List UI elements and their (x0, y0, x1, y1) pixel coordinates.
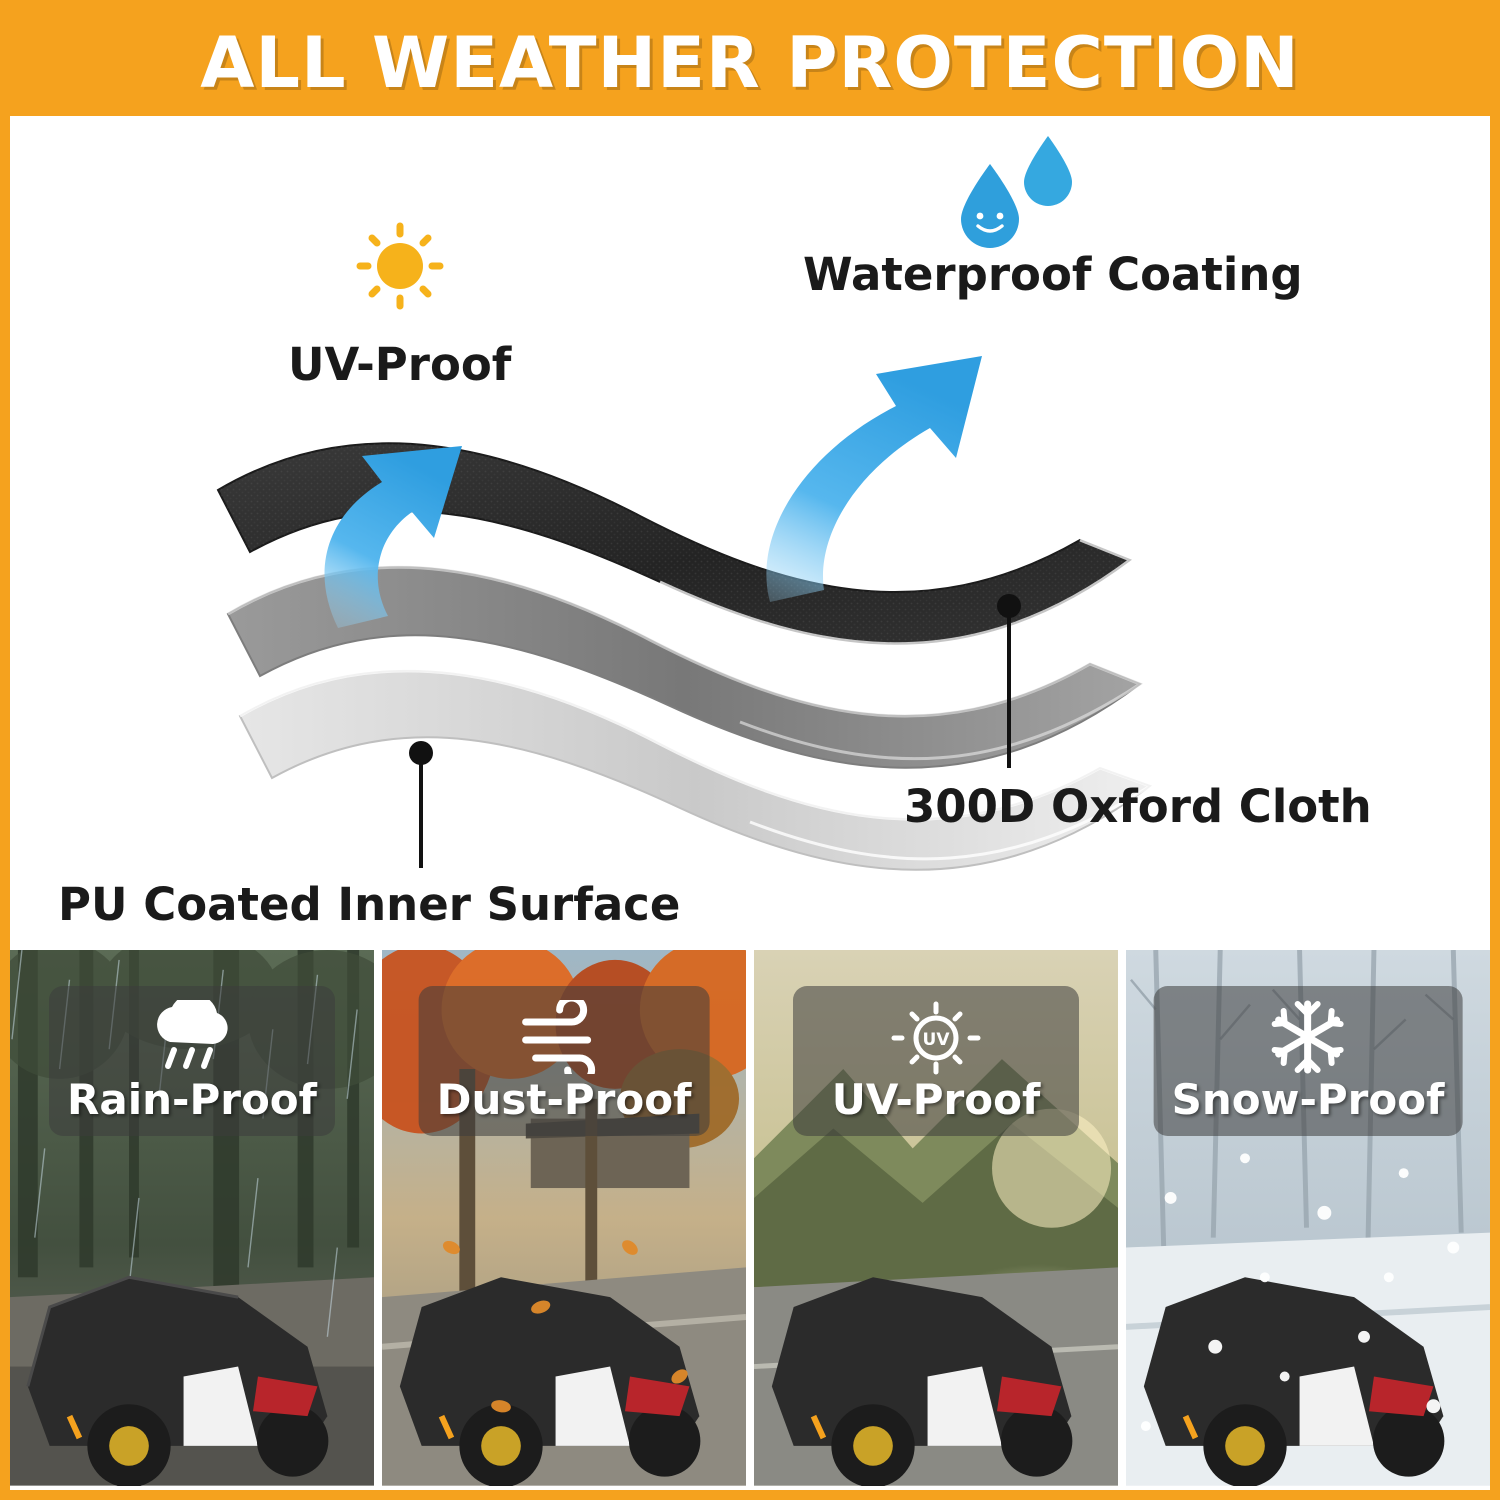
snowflake-icon (1265, 998, 1351, 1076)
feature-panels: Rain-Proof (10, 950, 1490, 1490)
panel-label: Snow-Proof (1172, 1078, 1445, 1122)
panel-label: UV-Proof (832, 1078, 1040, 1122)
panel-uv-proof: UV UV-Proof (754, 950, 1118, 1490)
sun-icon (360, 226, 440, 306)
panel-label: Dust-Proof (437, 1078, 692, 1122)
badge-uv-proof: UV UV-Proof (793, 986, 1079, 1136)
label-oxford-cloth: 300D Oxford Cloth (904, 780, 1372, 833)
product-infographic: ALL WEATHER PROTECTION (0, 0, 1500, 1500)
badge-rain-proof: Rain-Proof (49, 986, 335, 1136)
header-banner: ALL WEATHER PROTECTION (10, 10, 1490, 116)
uv-sun-icon: UV (888, 998, 984, 1076)
badge-dust-proof: Dust-Proof (419, 986, 710, 1136)
repel-arrow-right-icon (766, 356, 982, 602)
page-title: ALL WEATHER PROTECTION (200, 22, 1299, 104)
water-drop-icon (961, 136, 1072, 248)
panel-label: Rain-Proof (67, 1078, 317, 1122)
label-pu-inner-surface: PU Coated Inner Surface (58, 878, 680, 931)
callout-pu-inner (409, 741, 433, 868)
fabric-layers-diagram: UV-Proof Waterproof Coating 300D Oxford … (10, 116, 1490, 950)
panel-rain-proof: Rain-Proof (10, 950, 374, 1490)
panel-snow-proof: Snow-Proof (1126, 950, 1490, 1490)
label-waterproof-coating: Waterproof Coating (803, 248, 1303, 301)
badge-snow-proof: Snow-Proof (1154, 986, 1463, 1136)
panel-dust-proof: Dust-Proof (382, 950, 746, 1490)
svg-text:UV: UV (923, 1030, 951, 1050)
label-uv-proof: UV-Proof (288, 338, 511, 391)
wind-icon (514, 998, 614, 1076)
rain-cloud-icon (144, 998, 240, 1076)
